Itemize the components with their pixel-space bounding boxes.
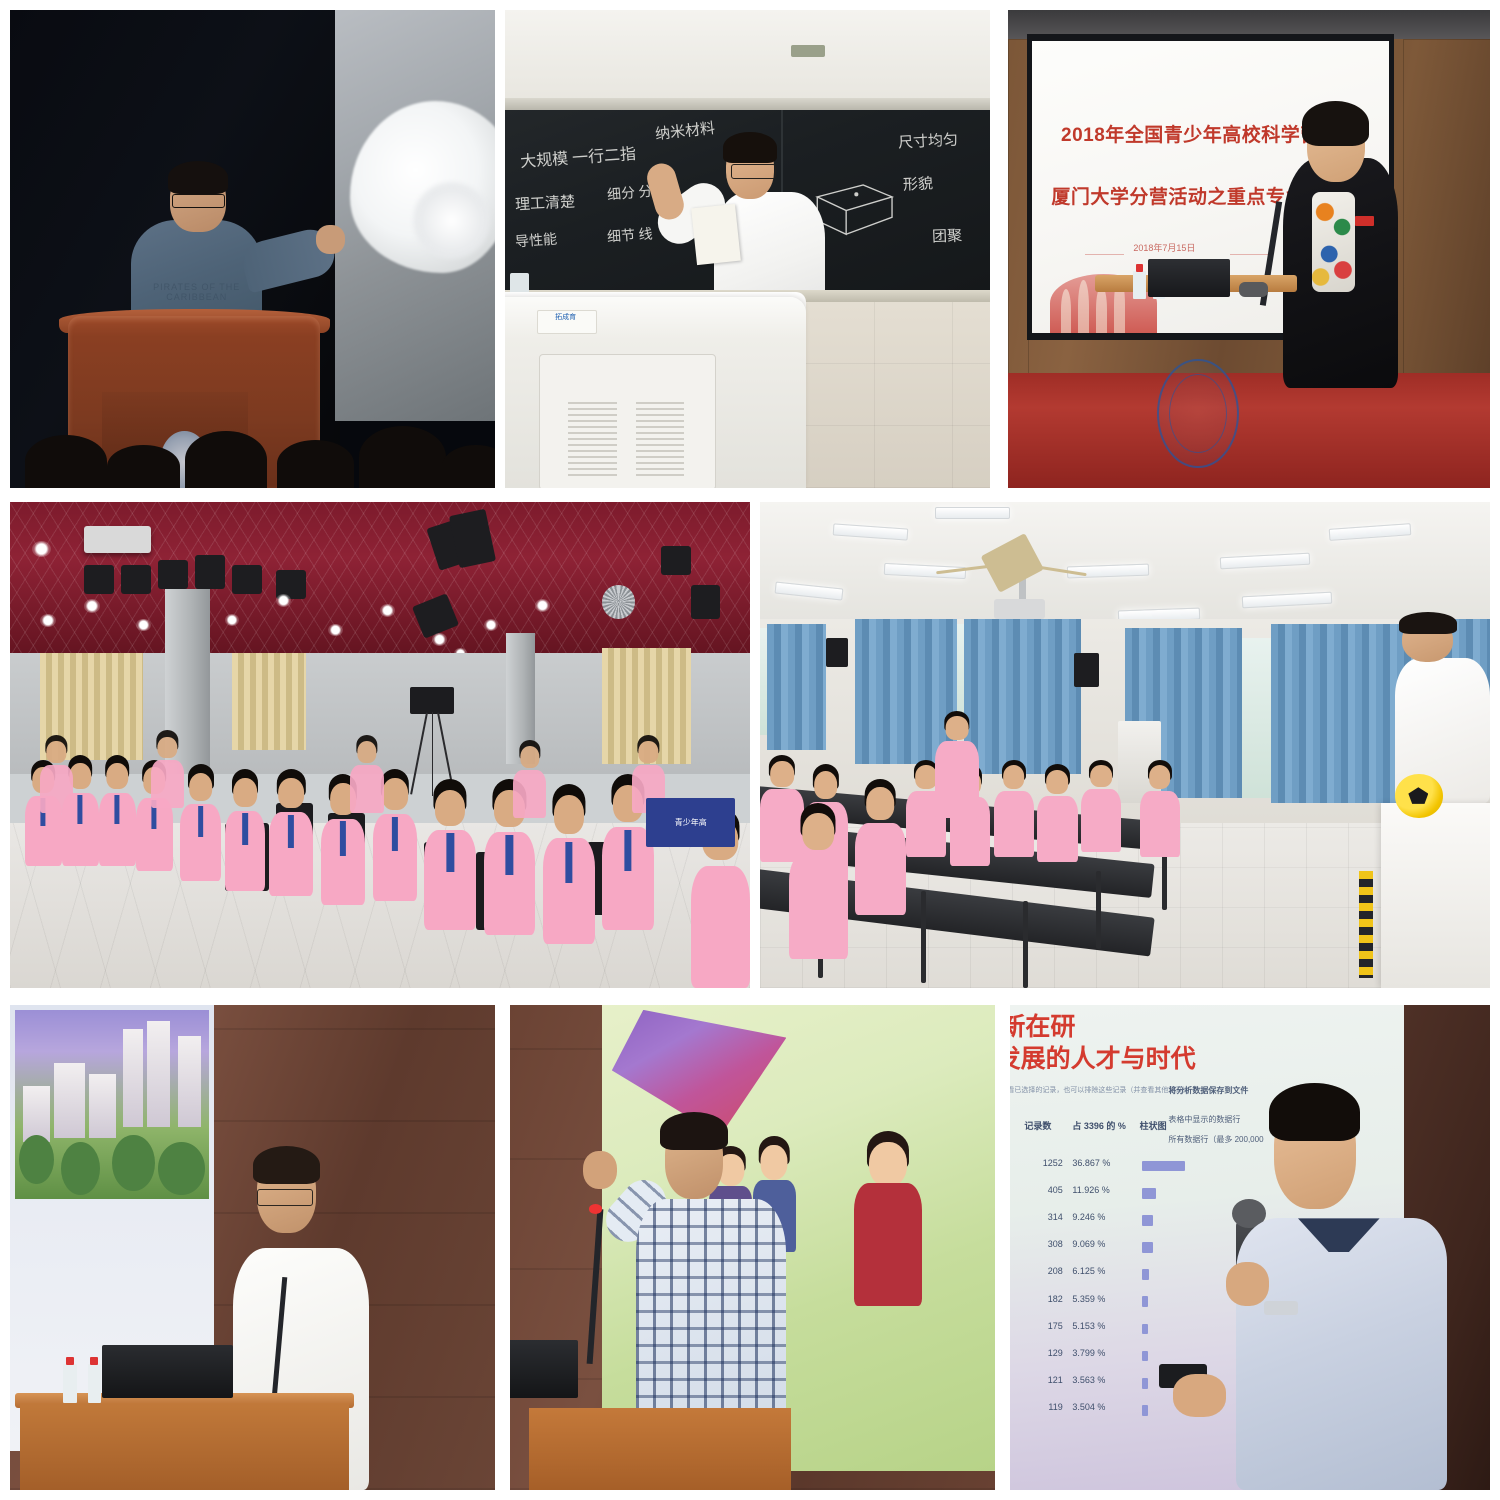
stage-light (84, 565, 114, 594)
table-col-header-percent: 占 3396 的 % (1072, 1119, 1126, 1132)
table-cell-records: 129 (1020, 1348, 1063, 1358)
student-attendee (99, 755, 136, 867)
student-attendee (269, 769, 313, 895)
student-attendee (789, 803, 847, 959)
blue-curtain (767, 624, 825, 750)
desk-leg (921, 891, 926, 983)
table-col-header-bar: 柱状图 (1140, 1119, 1167, 1132)
lanyard (242, 813, 248, 845)
audience-head (25, 435, 107, 488)
slide-date: 2018年7月15日 (1133, 241, 1195, 254)
child-in-slide (854, 1131, 922, 1306)
table-cell-bar (1142, 1161, 1185, 1172)
table-cell-records: 119 (1020, 1402, 1063, 1412)
student-head (278, 778, 304, 808)
table-cell-records: 175 (1020, 1321, 1063, 1331)
student-attendee (1037, 764, 1077, 861)
vent-grille (636, 402, 685, 478)
table-cell-percent: 9.246 % (1072, 1212, 1105, 1222)
table-cell-percent: 3.799 % (1072, 1348, 1105, 1358)
projected-highlight (413, 182, 491, 258)
student-head (520, 746, 539, 768)
campus-tree (19, 1135, 54, 1184)
table-cell-percent: 9.069 % (1072, 1239, 1105, 1249)
photo-young-speaker-dark-auditorium: PIRATES OF THE CARIBBEAN (10, 10, 495, 488)
student-head (435, 790, 465, 826)
student-head (639, 741, 658, 763)
white-podium (1381, 803, 1491, 988)
photo-auditorium-audience: 青少年高 (10, 502, 750, 988)
student-head (47, 741, 66, 763)
student-head (1003, 765, 1025, 788)
wall-speaker (826, 638, 848, 667)
student-attendee (40, 735, 73, 813)
student-head (814, 771, 838, 799)
desk-leg (1023, 901, 1028, 988)
photo-opening-ceremony-speaker: 2018年全国青少年高校科学营 厦门大学分营活动之重点专业体验 2018年7月1… (1008, 10, 1490, 488)
chalk-note: 尺寸均匀 (897, 128, 958, 152)
lanyard (288, 815, 294, 848)
ceiling-projector (994, 599, 1045, 618)
shirt-graphic-text: PIRATES OF THE CARIBBEAN (151, 282, 243, 302)
slide-side-note-title: 将分析数据保存到文件 (1168, 1085, 1248, 1096)
upper-wall (505, 10, 990, 110)
pink-polo-shirt (151, 760, 184, 808)
pink-polo-shirt (691, 866, 750, 988)
chalk-note: 形貌 (902, 172, 933, 195)
water-bottle (63, 1364, 77, 1403)
slide-side-note-line-1: 表格中显示的数据行 (1168, 1114, 1240, 1125)
table-cell-bar (1142, 1296, 1148, 1307)
pink-polo-shirt (994, 791, 1034, 857)
ceiling-spotlight (380, 604, 395, 617)
audience-head (442, 445, 495, 488)
student-head (1149, 765, 1171, 788)
hazard-stripe (1359, 871, 1374, 978)
lecturer-hair (1399, 612, 1457, 634)
stage-light (691, 585, 721, 619)
lanyard (115, 795, 120, 824)
audience-head (185, 431, 267, 488)
date-rule-left (1085, 254, 1124, 255)
speaker-hand (583, 1151, 617, 1190)
glasses-icon (731, 164, 777, 178)
mirror-ball (602, 585, 635, 619)
lanyard (340, 821, 346, 855)
ceiling-spotlight (136, 619, 151, 632)
wall-speaker (1074, 653, 1100, 687)
standing-student (935, 711, 979, 818)
table-cell-bar (1142, 1324, 1148, 1335)
student-attendee (151, 730, 184, 808)
campus-building (178, 1036, 201, 1127)
chalk-note: 理工清楚 (514, 190, 575, 214)
photo-senior-lecturer-campus-slide (10, 1005, 495, 1490)
audience-head (277, 440, 355, 488)
table-cell-bar (1142, 1351, 1148, 1362)
ceiling-spotlight (84, 599, 100, 613)
pink-polo-shirt (350, 765, 383, 813)
stage-curtain (232, 653, 306, 750)
speaker-hair (660, 1112, 728, 1151)
ceiling-fan (972, 555, 1074, 584)
slide-brush-stroke (1078, 280, 1089, 332)
speaker-mic-hand (1226, 1262, 1269, 1306)
pink-polo-shirt (1081, 789, 1121, 852)
lanyard (392, 817, 398, 851)
wood-panel (1008, 39, 1029, 376)
table-cell-records: 208 (1020, 1266, 1063, 1276)
photo-plaid-shirt-speaker (510, 1005, 995, 1490)
laptop (510, 1340, 578, 1398)
glasses-icon (257, 1189, 312, 1206)
video-camera (410, 687, 454, 715)
lectern-brand-text: 拓成育 (537, 312, 595, 322)
lecture-notes-paper (691, 204, 740, 266)
student-attendee (424, 779, 476, 930)
table-col-header-records: 记录数 (1024, 1119, 1051, 1132)
microphone-indicator (589, 1204, 603, 1214)
student-head (915, 765, 937, 788)
stage-light (232, 565, 262, 594)
table-cell-percent: 6.125 % (1072, 1266, 1105, 1276)
student-attendee (855, 779, 906, 915)
ceiling-spotlight (328, 624, 343, 637)
campus-building (23, 1086, 50, 1143)
slide-side-note-line-2: 所有数据行（最多 200,000 (1168, 1134, 1263, 1145)
chalk-note: 导性能 (514, 228, 557, 251)
child-face (869, 1142, 907, 1187)
student-head (867, 787, 895, 820)
stage-light (158, 560, 188, 589)
student-head (1047, 770, 1069, 793)
ceiling-spotlight (40, 614, 56, 628)
student-head (357, 741, 376, 763)
student-attendee (225, 769, 266, 891)
lanyard (78, 795, 83, 824)
wood-panel (1403, 39, 1490, 376)
student-head (233, 778, 257, 807)
table-cell-records: 1252 (1020, 1158, 1063, 1168)
pink-polo-shirt (513, 770, 546, 818)
stage-light (121, 565, 151, 594)
glasses-icon (172, 194, 225, 208)
blue-curtain (964, 619, 1081, 775)
slide-brush-stroke (1061, 289, 1072, 333)
student-attendee (1081, 760, 1121, 852)
student-head (158, 737, 177, 759)
campus-building (147, 1021, 170, 1127)
audience-head (107, 445, 180, 488)
lanyard (506, 835, 513, 875)
pink-polo-shirt (1037, 796, 1077, 862)
child-coat (854, 1183, 922, 1305)
student-attendee (350, 735, 383, 813)
student-head (803, 813, 835, 850)
football-icon (1395, 774, 1442, 818)
student-head (1090, 765, 1112, 787)
speaker-clicker-hand (1173, 1374, 1226, 1418)
lanyard (624, 830, 631, 870)
lapel-badge (1355, 216, 1374, 227)
audience-head (359, 426, 446, 488)
chalk-note: 团聚 (931, 225, 962, 247)
lanyard (447, 833, 454, 872)
pink-polo-shirt (855, 823, 906, 916)
fluorescent-tube (935, 507, 1010, 519)
photo-young-speaker-data-slide: 新在研 发展的人才与时代 直看已选择的记录，也可以排除这些记录（并查看其他记录）… (1010, 1005, 1490, 1490)
campus-tree (158, 1142, 205, 1195)
lanyard (198, 806, 204, 836)
pink-polo-shirt (40, 765, 73, 813)
photo-classroom-lecture (760, 502, 1490, 988)
table-cell-bar (1142, 1405, 1148, 1416)
chalk-note: 细节 线 (606, 224, 653, 247)
tiled-wall (796, 302, 990, 488)
campus-building (123, 1029, 142, 1127)
child-face (761, 1145, 788, 1180)
table-cell-records: 405 (1020, 1185, 1063, 1195)
student-head (770, 761, 794, 787)
student-head (554, 795, 584, 833)
lecturer-hair (723, 132, 776, 163)
campus-tree (112, 1135, 155, 1192)
campus-tree (61, 1142, 100, 1195)
wooden-podium (529, 1408, 791, 1490)
table-cell-bar (1142, 1215, 1153, 1226)
student-attendee (543, 784, 595, 944)
slide-title-line-1: 2018年全国青少年高校科学营 (1061, 120, 1320, 147)
board-clip (791, 45, 825, 56)
table-cell-records: 121 (1020, 1375, 1063, 1385)
table-cell-percent: 36.867 % (1072, 1158, 1110, 1168)
laptop (102, 1345, 233, 1398)
event-sign-text: 青少年高 (675, 817, 707, 828)
speaker-hair (1302, 101, 1369, 146)
photo-blackboard-lecture: 大规模 一行二指 纳米材料 理工清楚 细分 分子 导性能 细节 线 尺寸均匀 形… (505, 10, 990, 488)
table-cell-percent: 5.359 % (1072, 1294, 1105, 1304)
campus-building (89, 1074, 116, 1138)
event-sign: 青少年高 (646, 798, 735, 847)
slide-brush-stroke (1096, 286, 1107, 333)
table-cell-bar (1142, 1242, 1153, 1253)
table-cell-bar (1142, 1188, 1156, 1199)
table-cell-records: 182 (1020, 1294, 1063, 1304)
student-head (189, 773, 213, 801)
vent-grille (568, 402, 617, 478)
student-attendee (513, 740, 546, 818)
student-head (946, 716, 969, 740)
floral-blouse (1312, 192, 1355, 292)
water-bottle (88, 1364, 102, 1403)
stage-light (661, 546, 691, 575)
table-cell-records: 314 (1020, 1212, 1063, 1222)
board-rail (505, 98, 990, 109)
ceiling-spotlight (535, 599, 550, 612)
student-attendee (1140, 760, 1180, 857)
table-cell-percent: 3.504 % (1072, 1402, 1105, 1412)
table-cell-percent: 11.926 % (1072, 1185, 1109, 1195)
table-cell-records: 308 (1020, 1239, 1063, 1249)
lecturer-hair (253, 1146, 321, 1185)
slide-note-line: 直看已选择的记录，也可以排除这些记录（并查看其他记录）。 (1010, 1085, 1193, 1095)
speaker-hand (316, 225, 345, 254)
wristwatch (1264, 1301, 1298, 1316)
university-seal (1157, 359, 1238, 468)
table-cell-bar (1142, 1269, 1149, 1280)
pink-polo-shirt (789, 853, 847, 959)
campus-aerial-photo (15, 1010, 209, 1199)
table-cell-percent: 5.153 % (1072, 1321, 1105, 1331)
pink-polo-shirt (935, 741, 979, 818)
student-attendee (180, 764, 221, 881)
stage-light (195, 555, 225, 589)
desk-leg (1096, 871, 1101, 949)
speaker-hair (1269, 1083, 1360, 1141)
campus-building (54, 1063, 85, 1139)
ceiling-projector (84, 526, 151, 553)
lectern-panel (539, 354, 716, 488)
date-rule-right (1230, 254, 1269, 255)
slide-title-line-2: 发展的人才与时代 (1010, 1039, 1196, 1075)
table-cell-bar (1142, 1378, 1148, 1389)
speaker-hair (168, 161, 229, 194)
student-head (382, 778, 408, 809)
lanyard (565, 842, 572, 884)
student-attendee (994, 760, 1034, 857)
student-head (107, 763, 128, 790)
table-cell-percent: 3.563 % (1072, 1375, 1105, 1385)
ceiling-spotlight (432, 633, 447, 646)
speaker-polo-torso (1236, 1218, 1447, 1490)
pink-polo-shirt (1140, 791, 1180, 857)
wooden-podium (20, 1403, 350, 1490)
photo-collage: PIRATES OF THE CARIBBEAN 大规模 一行二指 纳米材料 理… (0, 0, 1500, 1500)
